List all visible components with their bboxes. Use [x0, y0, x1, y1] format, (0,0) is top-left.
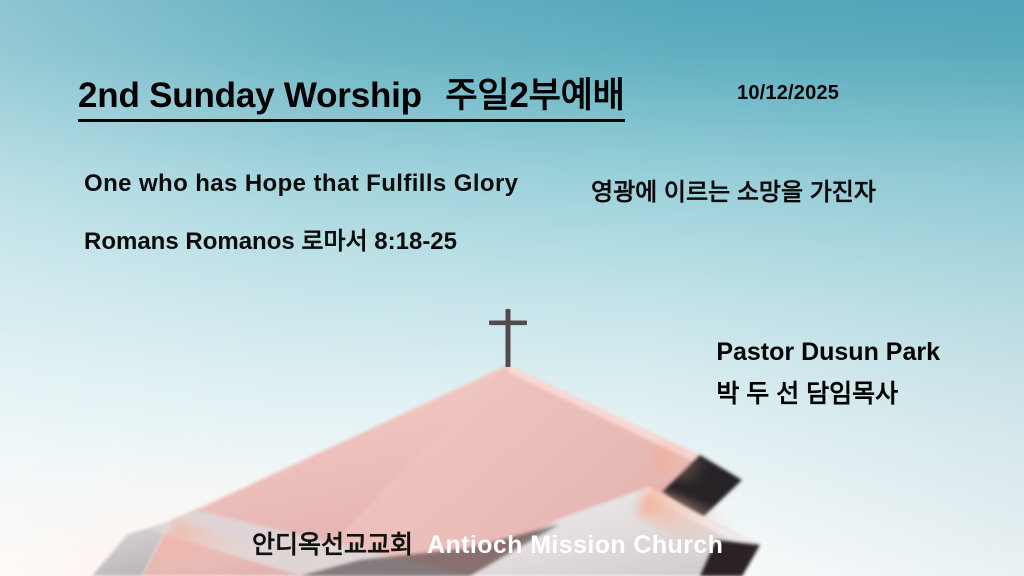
cross-group	[489, 309, 527, 367]
slide-title-ko: 주일2부예배	[431, 76, 624, 115]
service-date: 10/12/2025	[737, 82, 839, 105]
scripture-passage: Romans Romanos 로마서 8:18-25	[84, 221, 457, 256]
slide-title-wrap: 2nd Sunday Worship 주일2부예배	[78, 76, 625, 122]
speaker-name-ko: 박 두 선 담임목사	[716, 380, 940, 410]
sermon-title-en: One who has Hope that Fulfills Glory	[84, 170, 518, 198]
speaker-name-en: Pastor Dusun Park	[716, 338, 940, 368]
worship-slide: 2nd Sunday Worship 주일2부예배 10/12/2025 One…	[0, 0, 1024, 576]
sermon-title-ko: 영광에 이르는 소망을 가진자	[591, 172, 876, 207]
church-name-block: 안디옥선교교회 Antioch Mission Church	[252, 525, 723, 561]
cross-vertical-bar	[506, 309, 511, 367]
slide-title: 2nd Sunday Worship 주일2부예배	[78, 76, 625, 122]
speaker-block: Pastor Dusun Park 박 두 선 담임목사	[716, 338, 940, 409]
church-name-en: Antioch Mission Church	[427, 531, 723, 560]
church-name-ko: 안디옥선교교회	[252, 525, 413, 561]
slide-title-en: 2nd Sunday Worship	[78, 76, 422, 115]
cross-horizontal-bar	[489, 321, 527, 326]
